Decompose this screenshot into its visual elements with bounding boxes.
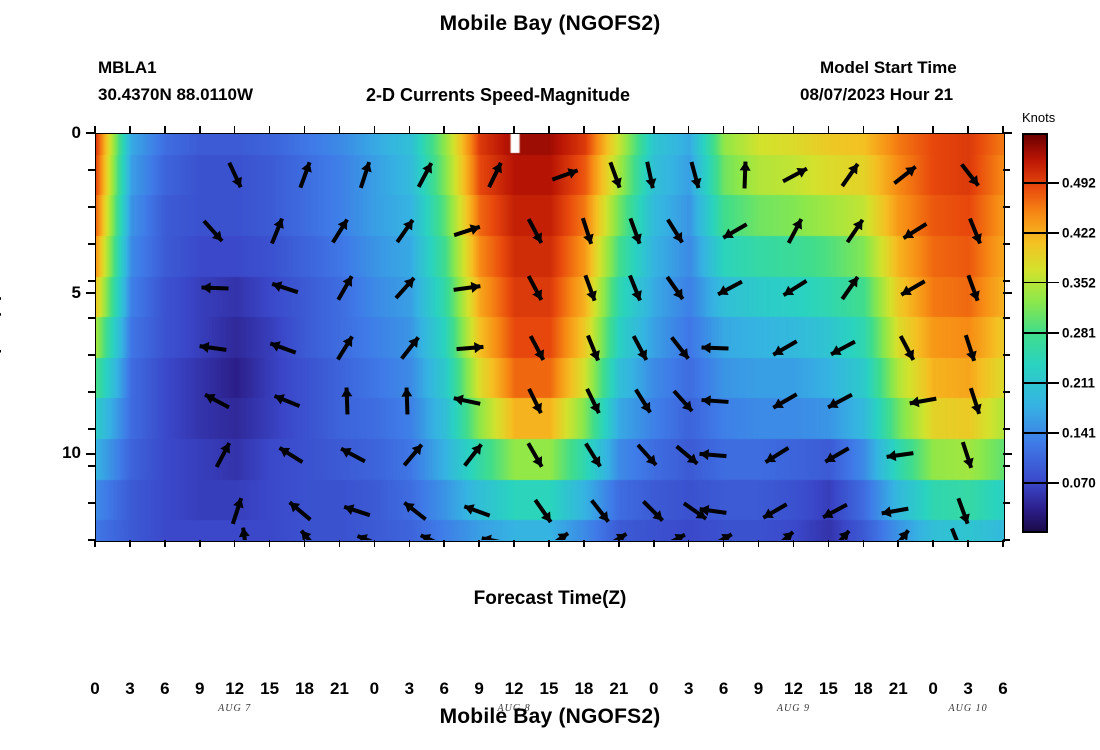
- x-tick-label: 21: [609, 679, 628, 699]
- x-tick: [234, 540, 236, 547]
- y-tick-minor: [1003, 206, 1010, 208]
- y-tick-minor: [88, 465, 95, 467]
- x-tick: [443, 540, 445, 547]
- x-tick: [548, 126, 550, 133]
- y-tick-minor: [88, 243, 95, 245]
- y-tick-minor: [88, 502, 95, 504]
- x-tick-label: 9: [754, 679, 763, 699]
- x-tick-label: 6: [160, 679, 169, 699]
- x-tick: [94, 540, 96, 547]
- x-tick: [688, 540, 690, 547]
- x-tick-label: 21: [330, 679, 349, 699]
- x-tick: [304, 540, 306, 547]
- y-tick-major: [1003, 132, 1012, 134]
- x-tick: [478, 540, 480, 547]
- axis-decorations: 036912151821036912151821036912151821036A…: [95, 133, 1003, 540]
- y-tick-minor: [88, 280, 95, 282]
- y-tick-major: [1003, 292, 1012, 294]
- x-tick-label: 9: [474, 679, 483, 699]
- x-tick: [967, 540, 969, 547]
- colorbar-tick: [1048, 332, 1059, 334]
- x-tick-label: 12: [225, 679, 244, 699]
- x-tick: [793, 540, 795, 547]
- x-tick: [758, 540, 760, 547]
- y-tick-major: [86, 292, 95, 294]
- x-tick-label: 12: [505, 679, 524, 699]
- station-id-label: MBLA1: [98, 58, 157, 78]
- colorbar-tick-label: 0.492: [1062, 176, 1096, 191]
- colorbar-tick-label: 0.281: [1062, 326, 1096, 341]
- x-tick: [897, 126, 899, 133]
- y-tick-minor: [1003, 317, 1010, 319]
- x-tick: [513, 540, 515, 547]
- colorbar-tick: [1048, 182, 1059, 184]
- station-coordinates: 30.4370N 88.0110W: [98, 85, 253, 105]
- colorbar-tick: [1048, 482, 1059, 484]
- x-tick: [199, 126, 201, 133]
- x-tick-label: 6: [719, 679, 728, 699]
- colorbar-segment-divider: [1024, 482, 1046, 484]
- x-tick: [932, 126, 934, 133]
- x-tick: [1002, 540, 1004, 547]
- model-start-time-label: Model Start Time: [820, 58, 957, 78]
- x-tick-label: 3: [684, 679, 693, 699]
- x-tick-label: 9: [195, 679, 204, 699]
- x-tick: [897, 540, 899, 547]
- y-tick-minor: [1003, 428, 1010, 430]
- x-tick-label: 21: [889, 679, 908, 699]
- x-tick: [409, 126, 411, 133]
- x-tick: [199, 540, 201, 547]
- x-tick: [828, 126, 830, 133]
- colorbar-tick-label: 0.352: [1062, 275, 1096, 290]
- x-tick-label: 6: [439, 679, 448, 699]
- y-tick-minor: [88, 391, 95, 393]
- x-tick-label: 15: [260, 679, 279, 699]
- x-tick: [129, 540, 131, 547]
- x-tick: [374, 126, 376, 133]
- x-tick: [653, 126, 655, 133]
- x-tick-label: 18: [854, 679, 873, 699]
- colorbar-tick: [1048, 232, 1059, 234]
- x-tick-label: 0: [370, 679, 379, 699]
- x-tick: [443, 126, 445, 133]
- x-tick: [164, 540, 166, 547]
- colorbar-segment-divider: [1024, 182, 1046, 184]
- colorbar-segment-divider: [1024, 432, 1046, 434]
- colorbar-tick: [1048, 282, 1059, 284]
- x-tick: [583, 126, 585, 133]
- x-tick-label: 3: [963, 679, 972, 699]
- x-tick: [618, 540, 620, 547]
- y-tick-minor: [1003, 391, 1010, 393]
- y-tick-minor: [88, 206, 95, 208]
- x-tick-label: 0: [928, 679, 937, 699]
- x-tick: [688, 126, 690, 133]
- x-tick: [758, 126, 760, 133]
- x-tick-label: 0: [649, 679, 658, 699]
- x-tick: [793, 126, 795, 133]
- y-tick-label: 10: [41, 443, 81, 463]
- y-tick-minor: [1003, 243, 1010, 245]
- colorbar-tick-label: 0.070: [1062, 476, 1096, 491]
- y-tick-label: 0: [41, 123, 81, 143]
- x-tick: [304, 126, 306, 133]
- y-tick-minor: [88, 428, 95, 430]
- x-tick: [723, 540, 725, 547]
- y-tick-minor: [88, 169, 95, 171]
- x-tick: [723, 126, 725, 133]
- x-tick: [129, 126, 131, 133]
- y-tick-label: 5: [41, 283, 81, 303]
- x-tick: [339, 540, 341, 547]
- colorbar-segment-divider: [1024, 332, 1046, 334]
- page-title: Mobile Bay (NGOFS2): [0, 12, 1100, 36]
- x-tick-label: 3: [405, 679, 414, 699]
- y-tick-minor: [88, 354, 95, 356]
- plot-subtitle: 2-D Currents Speed-Magnitude: [366, 85, 630, 106]
- x-tick-label: 6: [998, 679, 1007, 699]
- x-tick: [269, 126, 271, 133]
- x-tick: [548, 540, 550, 547]
- y-tick-minor: [1003, 539, 1010, 541]
- x-tick: [234, 126, 236, 133]
- colorbar-segment-divider: [1024, 232, 1046, 234]
- colorbar-tick-label: 0.211: [1062, 375, 1095, 390]
- x-tick: [932, 540, 934, 547]
- colorbar-unit-label: Knots: [1022, 110, 1055, 125]
- x-tick: [583, 540, 585, 547]
- x-tick: [967, 126, 969, 133]
- colorbar-segment-divider: [1024, 382, 1046, 384]
- x-tick-label: 15: [540, 679, 559, 699]
- y-tick-minor: [1003, 169, 1010, 171]
- colorbar-tick: [1048, 382, 1059, 384]
- x-tick: [164, 126, 166, 133]
- y-tick-minor: [1003, 354, 1010, 356]
- x-tick-label: 18: [295, 679, 314, 699]
- model-start-time-value: 08/07/2023 Hour 21: [800, 85, 953, 105]
- x-tick-label: 0: [90, 679, 99, 699]
- x-tick: [339, 126, 341, 133]
- x-axis-title: Forecast Time(Z): [0, 588, 1100, 610]
- y-tick-minor: [1003, 502, 1010, 504]
- y-tick-major: [86, 453, 95, 455]
- x-tick-label: 18: [574, 679, 593, 699]
- x-tick: [618, 126, 620, 133]
- x-tick: [653, 540, 655, 547]
- x-tick: [374, 540, 376, 547]
- y-tick-minor: [88, 539, 95, 541]
- y-tick-major: [1003, 453, 1012, 455]
- x-tick: [409, 540, 411, 547]
- y-tick-major: [86, 132, 95, 134]
- colorbar-tick-label: 0.422: [1062, 225, 1096, 240]
- y-tick-minor: [1003, 280, 1010, 282]
- y-axis-title: Depth (ft): [0, 294, 3, 378]
- y-tick-minor: [88, 317, 95, 319]
- colorbar-tick: [1048, 432, 1059, 434]
- x-tick: [863, 126, 865, 133]
- x-tick-label: 3: [125, 679, 134, 699]
- y-tick-minor: [1003, 465, 1010, 467]
- x-tick: [513, 126, 515, 133]
- x-tick: [269, 540, 271, 547]
- x-tick: [863, 540, 865, 547]
- x-tick-label: 12: [784, 679, 803, 699]
- footer-title: Mobile Bay (NGOFS2): [0, 705, 1100, 729]
- x-tick: [828, 540, 830, 547]
- colorbar-tick-label: 0.141: [1062, 425, 1096, 440]
- colorbar-segment-divider: [1024, 282, 1046, 284]
- x-tick: [478, 126, 480, 133]
- x-tick-label: 15: [819, 679, 838, 699]
